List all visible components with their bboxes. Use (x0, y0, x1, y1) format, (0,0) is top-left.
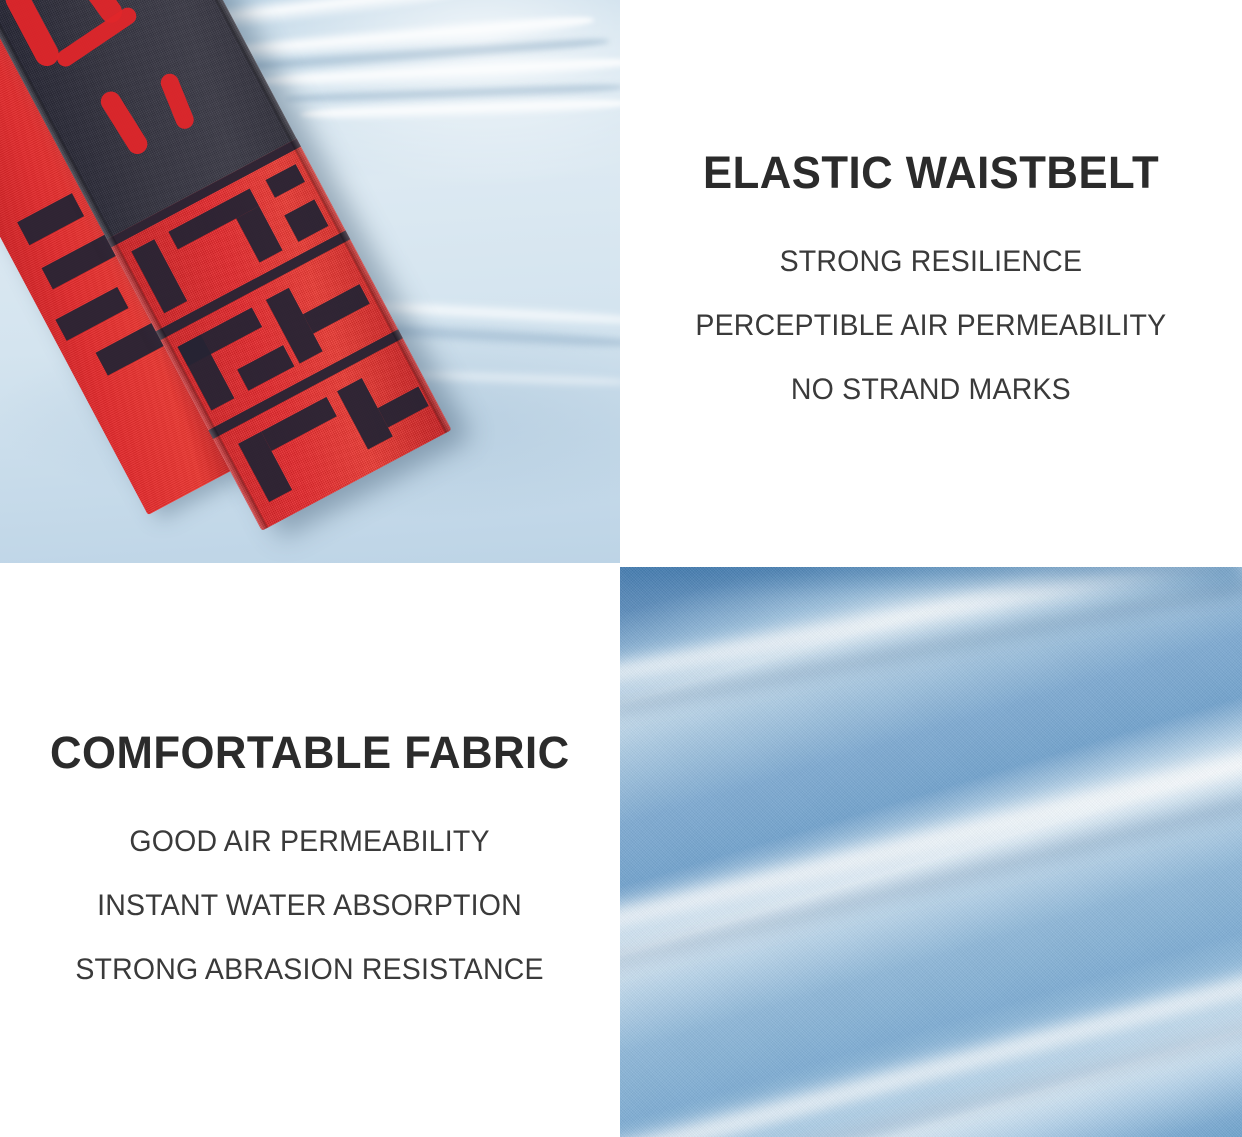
strap-letter-stroke (284, 199, 328, 241)
waistbelt-feature-2: PERCEPTIBLE AIR PERMEABILITY (696, 311, 1167, 341)
blue-fabric-photo (620, 567, 1242, 1137)
fabric-ridge-highlight (620, 931, 1242, 1137)
fabric-feature-3: STRONG ABRASION RESISTANCE (76, 955, 544, 985)
fabric-ridge-shadow (620, 977, 1242, 1137)
fabric-heading: COMFORTABLE FABRIC (50, 730, 570, 775)
strap-letter-stroke (237, 345, 294, 391)
fabric-ridge-highlight (620, 567, 1242, 697)
strap-letter-stroke (303, 284, 370, 333)
fabric-weave-texture (620, 567, 1242, 1137)
fabric-feature-list: GOOD AIR PERMEABILITY INSTANT WATER ABSO… (63, 827, 556, 985)
strap-letter-stroke (266, 164, 305, 198)
waistbelt-feature-1: STRONG RESILIENCE (696, 247, 1167, 277)
waistbelt-feature-list: STRONG RESILIENCE PERCEPTIBLE AIR PERMEA… (683, 247, 1179, 405)
fabric-ridge-highlight (620, 720, 1242, 951)
fabric-ridge-shadow (620, 567, 1242, 731)
strap-letter-stroke (236, 206, 282, 262)
elastic-waistbelt-text-panel: ELASTIC WAISTBELT STRONG RESILIENCE PERC… (620, 0, 1242, 563)
waistbelt-feature-3: NO STRAND MARKS (696, 375, 1167, 405)
fabric-top-shadow (620, 567, 1242, 597)
comfortable-fabric-text-panel: COMFORTABLE FABRIC GOOD AIR PERMEABILITY… (0, 567, 620, 1137)
tape-logo-stroke (55, 287, 128, 341)
waistbelt-heading: ELASTIC WAISTBELT (703, 150, 1159, 195)
fabric-feature-1: GOOD AIR PERMEABILITY (76, 827, 544, 857)
strap-letter-stroke (378, 386, 429, 427)
fabric-feature-2: INSTANT WATER ABSORPTION (76, 891, 544, 921)
fabric-ridge-shadow (620, 764, 1242, 991)
elastic-waistband-photo (0, 0, 620, 563)
tape-logo-stroke (17, 193, 84, 245)
product-feature-infographic: ELASTIC WAISTBELT STRONG RESILIENCE PERC… (0, 0, 1242, 1137)
